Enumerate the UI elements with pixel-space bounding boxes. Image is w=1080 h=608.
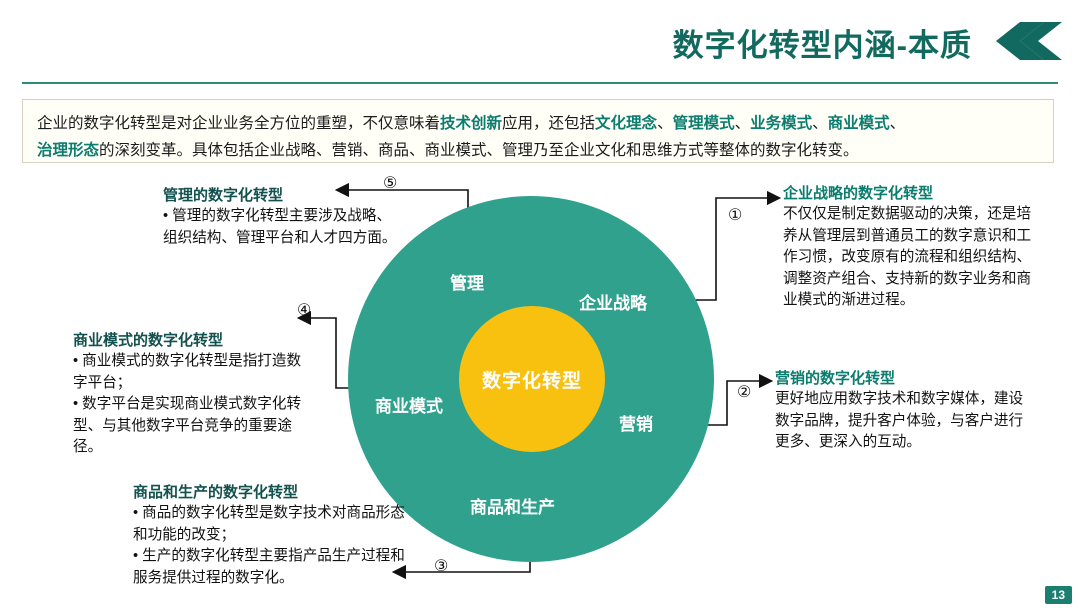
block-business-body-2: • 数字平台是实现商业模式数字化转型、与其他数字平台竞争的重要途径。 <box>73 394 303 459</box>
block-business-title: 商业模式的数字化转型 <box>73 330 303 351</box>
callout-number-1: ① <box>728 205 742 225</box>
block-marketing-body: 更好地应用数字技术和数字媒体，建设数字品牌，提升客户体验，与客户进行更多、更深入… <box>775 389 1025 454</box>
core-label: 数字化转型 <box>482 366 582 393</box>
ring-label-business: 商业模式 <box>375 392 443 417</box>
page-number-badge: 13 <box>1045 586 1072 604</box>
ring-label-product: 商品和生产 <box>470 493 555 518</box>
callout-number-2: ② <box>737 382 751 402</box>
block-strategy-body: 不仅仅是制定数据驱动的决策，还是培养从管理层到普通员工的数字意识和工作习惯，改变… <box>783 204 1033 312</box>
block-manage-title: 管理的数字化转型 <box>163 185 403 206</box>
block-product-body-1: • 商品的数字化转型是数字技术对商品形态和功能的改变； <box>133 503 413 546</box>
block-product-body-2: • 生产的数字化转型主要指产品生产过程和服务提供过程的数字化。 <box>133 546 413 589</box>
ring-label-marketing: 营销 <box>619 410 653 435</box>
core-circle: 数字化转型 <box>459 306 605 452</box>
block-marketing-title: 营销的数字化转型 <box>775 368 1025 389</box>
callout-number-3: ③ <box>434 556 448 576</box>
block-product: 商品和生产的数字化转型 • 商品的数字化转型是数字技术对商品形态和功能的改变； … <box>133 482 413 589</box>
ring-label-manage: 管理 <box>450 269 484 294</box>
block-business-body-1: • 商业模式的数字化转型是指打造数字平台； <box>73 351 303 394</box>
block-strategy: 企业战略的数字化转型 不仅仅是制定数据驱动的决策，还是培养从管理层到普通员工的数… <box>783 183 1033 312</box>
block-business: 商业模式的数字化转型 • 商业模式的数字化转型是指打造数字平台； • 数字平台是… <box>73 330 303 459</box>
block-marketing: 营销的数字化转型 更好地应用数字技术和数字媒体，建设数字品牌，提升客户体验，与客… <box>775 368 1025 454</box>
block-manage: 管理的数字化转型 • 管理的数字化转型主要涉及战略、组织结构、管理平台和人才四方… <box>163 185 403 249</box>
block-product-title: 商品和生产的数字化转型 <box>133 482 413 503</box>
ring-label-strategy: 企业战略 <box>579 289 647 314</box>
callout-number-4: ④ <box>297 300 311 320</box>
block-strategy-title: 企业战略的数字化转型 <box>783 183 1033 204</box>
block-manage-body: • 管理的数字化转型主要涉及战略、组织结构、管理平台和人才四方面。 <box>163 206 403 249</box>
